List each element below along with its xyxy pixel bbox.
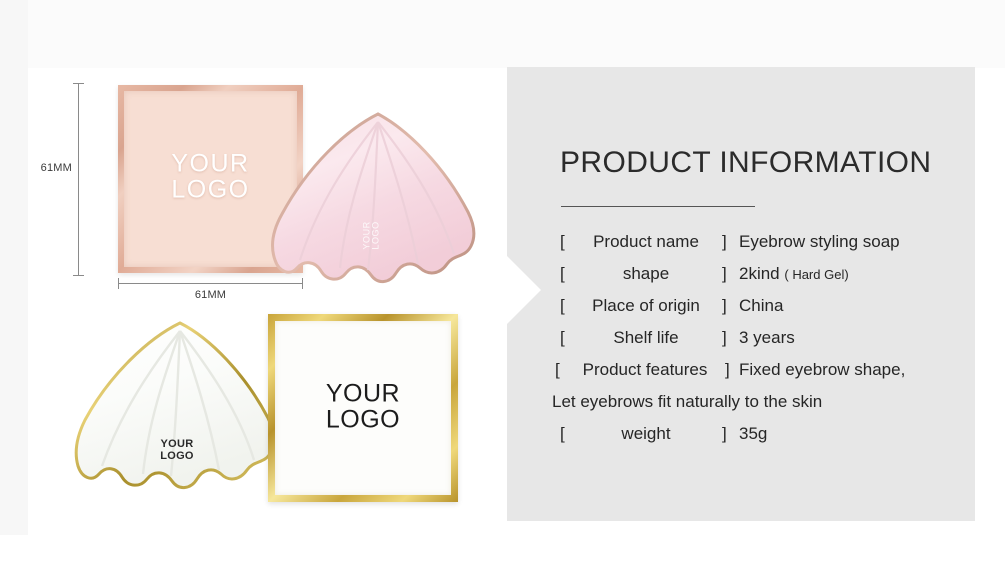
- bracket-close: ]: [722, 328, 727, 348]
- bracket-open: [: [560, 296, 565, 316]
- spec-row-shelf-life: [ Shelf life ] 3 years: [507, 328, 975, 360]
- spec-value-note: ( Hard Gel): [784, 267, 848, 282]
- bracket-close: ]: [725, 360, 730, 380]
- bracket-open: [: [560, 328, 565, 348]
- product-photo-area: 61MM 61MM YOUR LOGO: [28, 68, 507, 535]
- bracket-open: [: [560, 232, 565, 252]
- bracket-close: ]: [722, 424, 727, 444]
- product-information-graphic: 61MM 61MM YOUR LOGO: [0, 0, 1005, 568]
- spec-label: Shelf life: [570, 328, 722, 348]
- spec-label: Product name: [570, 232, 722, 252]
- spec-row-product-name: [ Product name ] Eyebrow styling soap: [507, 232, 975, 264]
- spec-value: 3 years: [739, 328, 795, 348]
- height-dimension-line: [78, 83, 79, 275]
- spec-value: 35g: [739, 424, 767, 444]
- spec-label: Product features: [565, 360, 725, 380]
- spec-value: 2kind ( Hard Gel): [739, 264, 849, 284]
- spec-value: China: [739, 296, 783, 316]
- page-title: PRODUCT INFORMATION: [560, 146, 931, 180]
- bracket-close: ]: [722, 296, 727, 316]
- bracket-open: [: [560, 424, 565, 444]
- gold-box-logo: YOUR LOGO: [275, 381, 451, 432]
- page-top-margin: [28, 0, 1005, 68]
- spec-value: Eyebrow styling soap: [739, 232, 900, 252]
- spec-label: weight: [570, 424, 722, 444]
- features-continuation-text: Let eyebrows fit naturally to the skin: [552, 392, 822, 412]
- spec-row-shape: [ shape ] 2kind ( Hard Gel): [507, 264, 975, 296]
- pink-shell-product: YOUR LOGO: [268, 108, 488, 308]
- bracket-open: [: [560, 264, 565, 284]
- spec-value: Fixed eyebrow shape,: [739, 360, 905, 380]
- spec-row-place-of-origin: [ Place of origin ] China: [507, 296, 975, 328]
- gold-box-logo-line1: YOUR: [275, 381, 451, 406]
- bracket-close: ]: [722, 232, 727, 252]
- height-dimension-label: 61MM: [28, 162, 72, 174]
- white-shell-product: YOUR LOGO: [73, 318, 288, 513]
- pink-shell-icon: [268, 108, 488, 308]
- spec-label: Place of origin: [570, 296, 722, 316]
- bracket-close: ]: [722, 264, 727, 284]
- specification-list: [ Product name ] Eyebrow styling soap [ …: [507, 232, 975, 456]
- bracket-open: [: [555, 360, 560, 380]
- gold-box-logo-line2: LOGO: [275, 407, 451, 433]
- height-dimension-cap-top: [73, 83, 84, 84]
- gold-product-box: YOUR LOGO: [268, 314, 458, 502]
- width-dimension-cap-left: [118, 278, 119, 289]
- spec-value-main: 2kind: [739, 264, 780, 283]
- page-left-margin: [0, 0, 28, 535]
- spec-row-features-continuation: Let eyebrows fit naturally to the skin: [507, 392, 975, 424]
- spec-row-product-features: [ Product features ] Fixed eyebrow shape…: [507, 360, 975, 392]
- title-underline: [561, 206, 755, 207]
- white-shell-icon: [73, 318, 288, 513]
- height-dimension-cap-bottom: [73, 275, 84, 276]
- gold-box-face: YOUR LOGO: [275, 321, 451, 495]
- spec-row-weight: [ weight ] 35g: [507, 424, 975, 456]
- spec-label: shape: [570, 264, 722, 284]
